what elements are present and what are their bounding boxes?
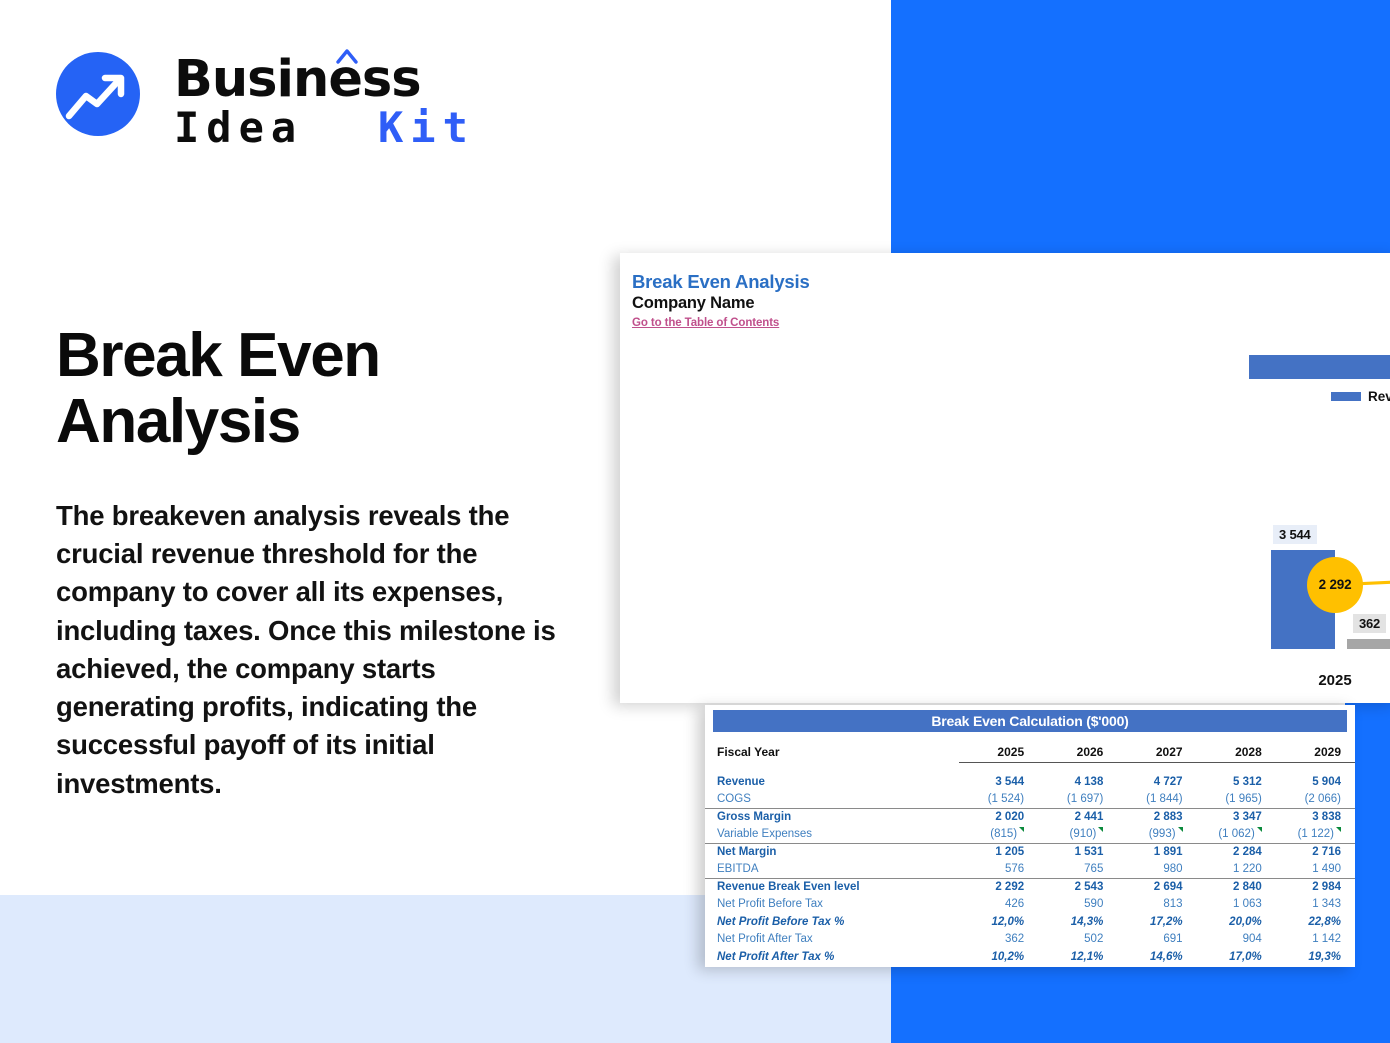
table-row: COGS(1 524)(1 697)(1 844)(1 965)(2 066) — [705, 791, 1355, 809]
brand-word-kit: Kit — [378, 107, 475, 149]
comment-flag-icon — [1178, 827, 1183, 832]
table-cell-2026: 12,1% — [1038, 948, 1117, 966]
table-row-label: Net Profit Before Tax % — [705, 913, 959, 931]
page-description: The breakeven analysis reveals the cruci… — [56, 497, 556, 803]
table-row: Net Margin1 2051 5311 8912 2842 716 — [705, 843, 1355, 861]
table-body: Revenue3 5444 1384 7275 3125 904COGS(1 5… — [705, 762, 1355, 966]
table-head: Fiscal Year 2025 2026 2027 2028 2029 — [705, 738, 1355, 762]
table-cell-2025: 426 — [959, 896, 1038, 914]
table-cell-2025: 2 292 — [959, 878, 1038, 896]
chart-group-2025: 3 544362 — [1271, 457, 1390, 649]
table-cell-2027: 813 — [1117, 896, 1196, 914]
table-header-fiscal-year: Fiscal Year — [705, 738, 959, 762]
table-cell-2028: 5 312 — [1197, 773, 1276, 791]
table-header-year-2028: 2028 — [1197, 738, 1276, 762]
table-cell-2025: 576 — [959, 861, 1038, 879]
table-cell-2026: (1 697) — [1038, 791, 1117, 809]
table-cell-2026: 765 — [1038, 861, 1117, 879]
comment-flag-icon — [1019, 827, 1024, 832]
table-cell-2027: (993) — [1117, 826, 1196, 844]
table-header-year-2025: 2025 — [959, 738, 1038, 762]
table-cell-2026: 2 441 — [1038, 808, 1117, 826]
table-row: Revenue3 5444 1384 7275 3125 904 — [705, 773, 1355, 791]
table-cell-2027: 2 694 — [1117, 878, 1196, 896]
comment-flag-icon — [1336, 827, 1341, 832]
table-cell-2029: 3 838 — [1276, 808, 1355, 826]
brand-word-business: Business — [174, 54, 421, 105]
table-cell-2029: 1 343 — [1276, 896, 1355, 914]
table-cell-2029: 2 716 — [1276, 843, 1355, 861]
table-cell-2025: 3 544 — [959, 773, 1038, 791]
x-axis-label-2025: 2025 — [1265, 672, 1390, 689]
background-panel-top-right — [891, 0, 1390, 253]
table-cell-2027: 980 — [1117, 861, 1196, 879]
company-name: Company Name — [632, 294, 1390, 313]
table-cell-2026: 4 138 — [1038, 773, 1117, 791]
table-cell-2025: (1 524) — [959, 791, 1038, 809]
brand-caret-icon — [336, 48, 358, 64]
table-of-contents-link[interactable]: Go to the Table of Contents — [632, 317, 779, 329]
table-cell-2027: 14,6% — [1117, 948, 1196, 966]
table-row: Net Profit After Tax3625026919041 142 — [705, 931, 1355, 949]
table-row-label: Variable Expenses — [705, 826, 959, 844]
comment-flag-icon — [1098, 827, 1103, 832]
page-title: Break EvenAnalysis — [56, 323, 576, 454]
table-cell-2028: 20,0% — [1197, 913, 1276, 931]
table-header-row: Fiscal Year 2025 2026 2027 2028 2029 — [705, 738, 1355, 762]
table-cell-2029: (1 122) — [1276, 826, 1355, 844]
table-cell-2026: 1 531 — [1038, 843, 1117, 861]
table-row: Gross Margin2 0202 4412 8833 3473 838 — [705, 808, 1355, 826]
table-row-label: EBITDA — [705, 861, 959, 879]
comment-flag-icon — [1257, 827, 1262, 832]
table-cell-2029: 22,8% — [1276, 913, 1355, 931]
table-cell-2028: 2 840 — [1197, 878, 1276, 896]
table-cell-2028: 904 — [1197, 931, 1276, 949]
table-row: Net Profit After Tax %10,2%12,1%14,6%17,… — [705, 948, 1355, 966]
table-row-label: Net Profit Before Tax — [705, 896, 959, 914]
table-header-year-2029: 2029 — [1276, 738, 1355, 762]
table-cell-2027: 2 883 — [1117, 808, 1196, 826]
table-cell-2027: 1 891 — [1117, 843, 1196, 861]
table-row: Variable Expenses(815)(910)(993)(1 062)(… — [705, 826, 1355, 844]
legend-label-revenue: Revenue — [1368, 389, 1390, 404]
bar-net-profit-2025 — [1347, 639, 1390, 649]
data-label-revenue-2025: 3 544 — [1273, 525, 1317, 544]
table-cell-2029: 1 142 — [1276, 931, 1355, 949]
sheet-title: Break Even Analysis — [632, 271, 1390, 293]
table-cell-2025: 12,0% — [959, 913, 1038, 931]
table-cell-2027: 17,2% — [1117, 913, 1196, 931]
table-row-label: COGS — [705, 791, 959, 809]
table-row: Net Profit Before Tax4265908131 0631 343 — [705, 896, 1355, 914]
table-cell-2026: (910) — [1038, 826, 1117, 844]
table-row-label: Net Profit After Tax — [705, 931, 959, 949]
table-cell-2026: 590 — [1038, 896, 1117, 914]
table-row: Net Profit Before Tax %12,0%14,3%17,2%20… — [705, 913, 1355, 931]
table-cell-2026: 2 543 — [1038, 878, 1117, 896]
table-cell-2026: 502 — [1038, 931, 1117, 949]
table-cell-2029: 1 490 — [1276, 861, 1355, 879]
table-cell-2028: 2 284 — [1197, 843, 1276, 861]
data-label-net-profit-2025: 362 — [1353, 614, 1386, 633]
table-cell-2028: 3 347 — [1197, 808, 1276, 826]
table-cell-2028: 1 220 — [1197, 861, 1276, 879]
table-row: Revenue Break Even level2 2922 5432 6942… — [705, 878, 1355, 896]
table-cell-2028: 17,0% — [1197, 948, 1276, 966]
table-cell-2029: 19,3% — [1276, 948, 1355, 966]
table-cell-2028: (1 965) — [1197, 791, 1276, 809]
table-cell-2025: 2 020 — [959, 808, 1038, 826]
table-row: EBITDA5767659801 2201 490 — [705, 861, 1355, 879]
table-header-year-2026: 2026 — [1038, 738, 1117, 762]
table-cell-2029: (2 066) — [1276, 791, 1355, 809]
legend-swatch-revenue — [1331, 392, 1361, 401]
table-row-label: Revenue Break Even level — [705, 878, 959, 896]
chart-plot-area: 3 54436220252 2924 13850220262 5434 7276… — [1249, 415, 1390, 703]
chart-legend: Revenue Net Profit After Tax Revenue Bre… — [1249, 385, 1390, 407]
table-cell-2027: (1 844) — [1117, 791, 1196, 809]
table-cell-2025: (815) — [959, 826, 1038, 844]
table-row-label: Revenue — [705, 773, 959, 791]
table-cell-2028: 1 063 — [1197, 896, 1276, 914]
table-cell-2028: (1 062) — [1197, 826, 1276, 844]
brand-word-idea: Idea — [174, 107, 303, 149]
chart-title-banner: Break Even Chart ($'000) — [1249, 355, 1390, 379]
table-row-label: Net Profit After Tax % — [705, 948, 959, 966]
table-cell-2027: 4 727 — [1117, 773, 1196, 791]
table-header-year-2027: 2027 — [1117, 738, 1196, 762]
table-cell-2025: 10,2% — [959, 948, 1038, 966]
table-cell-2026: 14,3% — [1038, 913, 1117, 931]
table-row-label: Gross Margin — [705, 808, 959, 826]
sheet-header: Break Even Analysis Company Name Go to t… — [620, 253, 1390, 331]
break-even-chart-card: Break Even Analysis Company Name Go to t… — [620, 253, 1390, 703]
break-even-marker-2025: 2 292 — [1307, 557, 1363, 613]
table-cell-2025: 1 205 — [959, 843, 1038, 861]
table-cell-2025: 362 — [959, 931, 1038, 949]
table-spacer-row — [705, 762, 1355, 773]
table-row-label: Net Margin — [705, 843, 959, 861]
table-cell-2027: 691 — [1117, 931, 1196, 949]
table-cell-2029: 5 904 — [1276, 773, 1355, 791]
break-even-calculation-card: Break Even Calculation ($'000) Fiscal Ye… — [705, 705, 1355, 967]
legend-item-revenue: Revenue — [1331, 389, 1390, 404]
brand-logo: Business Idea Kit — [56, 52, 436, 157]
growth-arrow-icon — [56, 52, 140, 136]
table-cell-2029: 2 984 — [1276, 878, 1355, 896]
table-title-banner: Break Even Calculation ($'000) — [713, 710, 1347, 732]
break-even-table: Fiscal Year 2025 2026 2027 2028 2029 Rev… — [705, 738, 1355, 966]
